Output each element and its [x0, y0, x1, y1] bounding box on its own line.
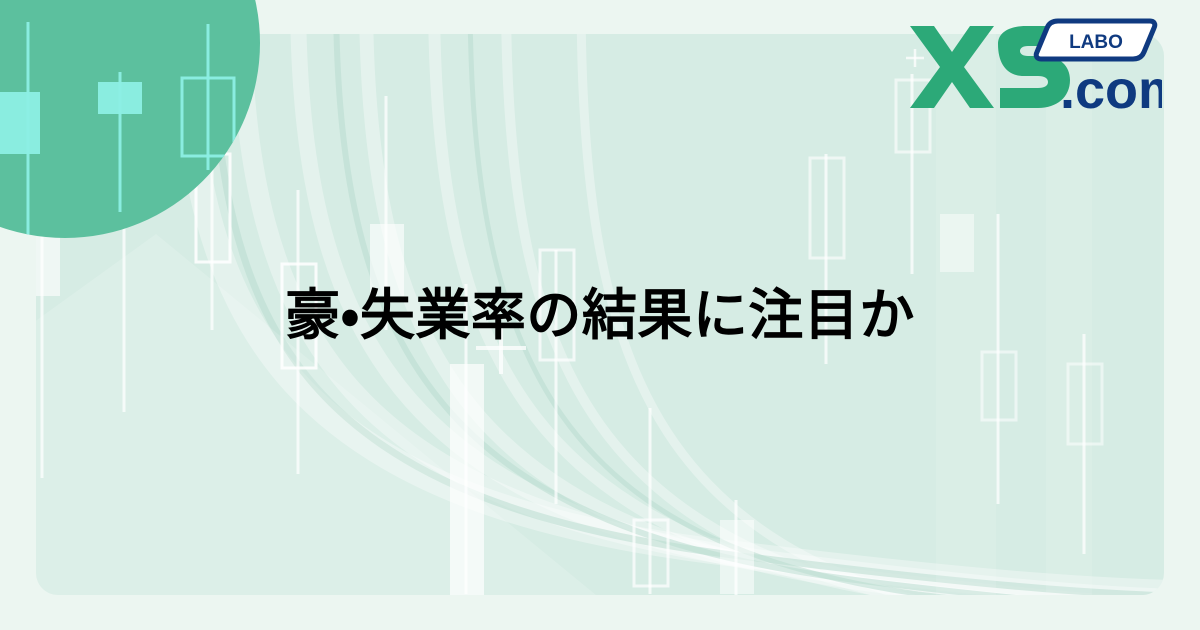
xs-com-labo-logo[interactable]: XS.com LABO LABO .com: [900, 18, 1162, 112]
page-title: 豪・失業率の結果に注目か: [285, 281, 915, 350]
labo-badge-label: LABO: [1069, 32, 1123, 53]
domain-suffix-text: .com: [1060, 60, 1162, 112]
social-card: 豪・失業率の結果に注目か XS.com LABO LABO .com: [0, 0, 1200, 630]
labo-badge: LABO: [1036, 21, 1155, 59]
sparkle-icon: [906, 49, 924, 67]
